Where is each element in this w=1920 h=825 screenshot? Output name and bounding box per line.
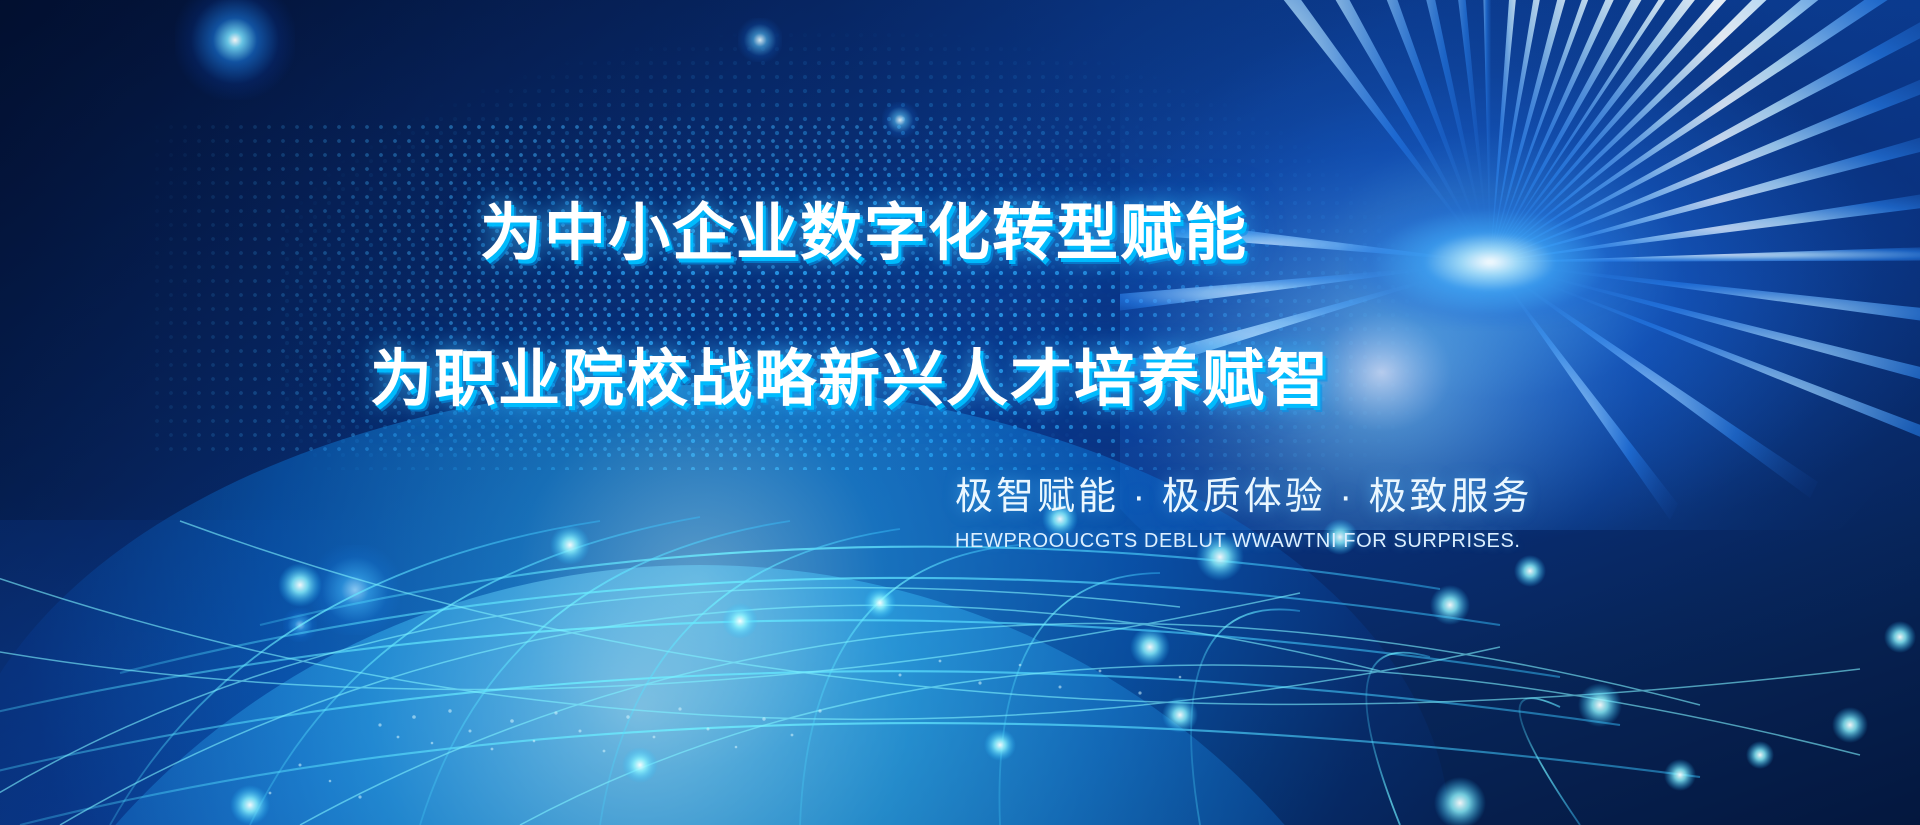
light-burst-icon xyxy=(1120,0,1920,530)
background-vignette xyxy=(0,0,1920,825)
background-wedge xyxy=(0,0,900,520)
halftone-dot-grid-secondary xyxy=(150,120,1230,460)
glow-star-small-icon xyxy=(738,18,782,62)
tagline: 极智赋能 · 极质体验 · 极致服务 xyxy=(955,465,1533,520)
glow-star-icon xyxy=(175,0,295,100)
globe-glow xyxy=(0,385,1450,825)
glow-star-small-icon-4 xyxy=(283,608,317,642)
glow-star-small-icon-3 xyxy=(310,545,400,635)
hero-banner: 为中小企业数字化转型赋能 为职业院校战略新兴人才培养赋智 极智赋能 · 极质体验… xyxy=(0,0,1920,825)
glow-star-small-icon-2 xyxy=(882,102,918,138)
headline-line-1: 为中小企业数字化转型赋能 xyxy=(480,182,1248,272)
light-burst-halo xyxy=(1120,0,1880,545)
copy-block: 为中小企业数字化转型赋能 为职业院校战略新兴人才培养赋智 极智赋能 · 极质体验… xyxy=(0,0,1920,825)
halftone-dot-grid xyxy=(280,0,1460,470)
headline-line-2: 为职业院校战略新兴人才培养赋智 xyxy=(370,328,1330,418)
light-burst-core xyxy=(1345,197,1635,327)
subline-english: HEWPROOUCGTS DEBLUT WWAWTNI FOR SURPRISE… xyxy=(955,530,1521,553)
network-globe xyxy=(0,425,1920,825)
